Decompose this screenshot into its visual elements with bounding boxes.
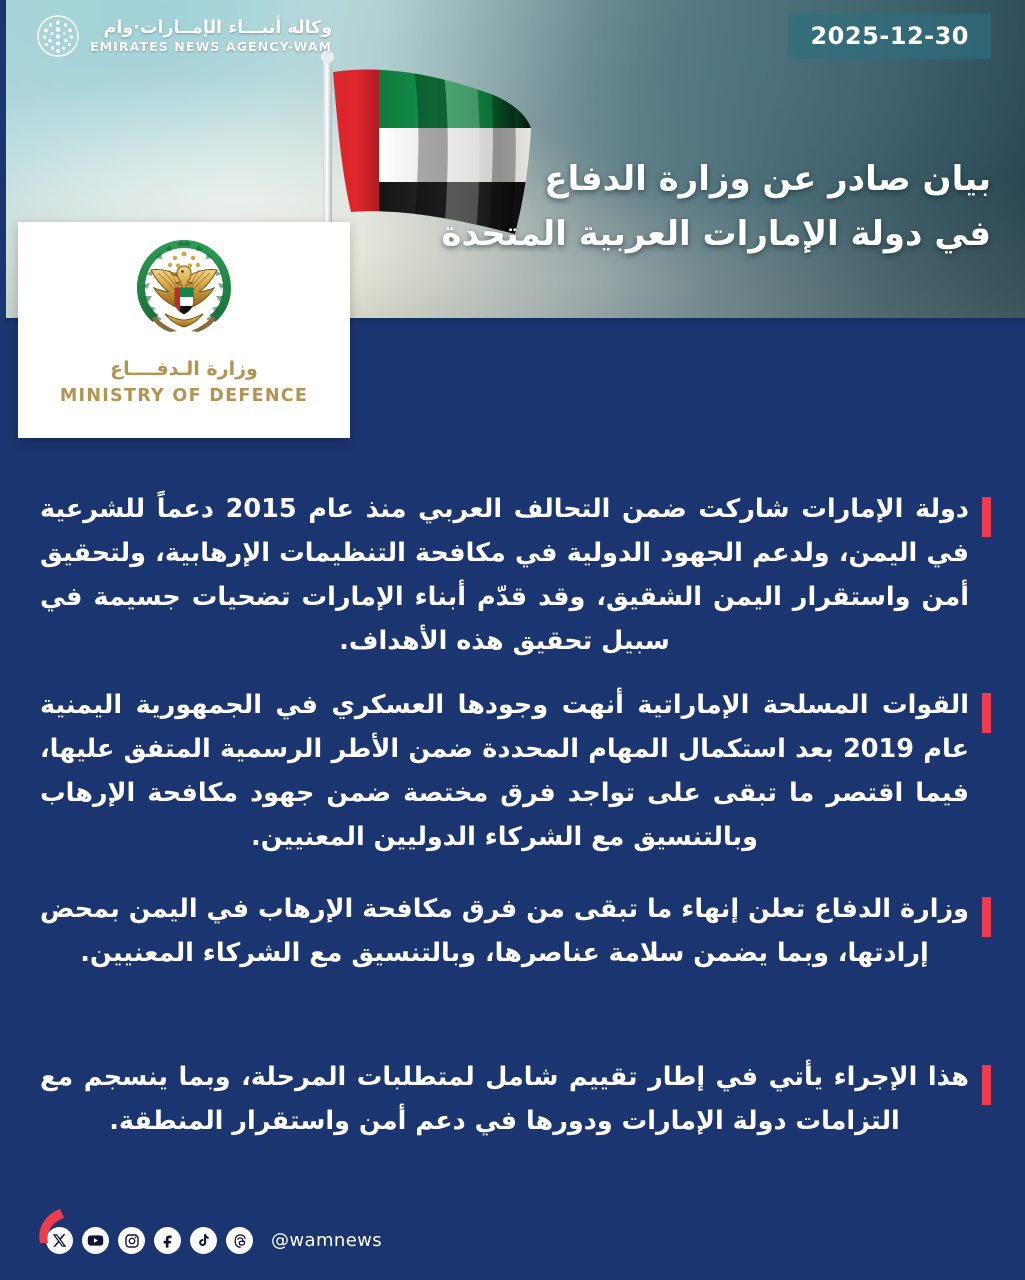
instagram-icon[interactable] [118, 1227, 145, 1254]
headline-line-1: بيان صادر عن وزارة الدفاع [544, 159, 991, 199]
statement-paragraph: دولة الإمارات شاركت ضمن التحالف العربي م… [40, 488, 991, 663]
statement-paragraph: القوات المسلحة الإماراتية أنهت وجودها ال… [40, 684, 991, 859]
page-title: بيان صادر عن وزارة الدفاع في دولة الإمار… [291, 152, 991, 262]
statement-body: دولة الإمارات شاركت ضمن التحالف العربي م… [0, 322, 1025, 1280]
statement-paragraph: هذا الإجراء يأتي في إطار تقييم شامل لمتط… [40, 1056, 991, 1144]
wam-logo-arabic: وكالة أنبـــاء الإمــارات·وام [90, 19, 332, 37]
threads-icon[interactable] [226, 1227, 253, 1254]
ministry-name-english: MINISTRY OF DEFENCE [60, 386, 308, 406]
social-handle: @wamnews [271, 1230, 382, 1251]
youtube-icon[interactable] [82, 1227, 109, 1254]
date-badge: 2025-12-30 [788, 14, 991, 59]
statement-paragraph: وزارة الدفاع تعلن إنهاء ما تبقى من فرق م… [40, 888, 991, 976]
ministry-of-defence-card: وزارة الـدفــــاع MINISTRY OF DEFENCE [18, 222, 350, 438]
tiktok-icon[interactable] [190, 1227, 217, 1254]
wam-logo: وكالة أنبـــاء الإمــارات·وام EMIRATES N… [36, 14, 332, 58]
wam-logo-english: EMIRATES NEWS AGENCY-WAM [90, 40, 332, 53]
facebook-icon[interactable] [154, 1227, 181, 1254]
social-footer: @wamnews [46, 1227, 382, 1254]
red-swoosh-icon [34, 1205, 68, 1245]
news-statement-card: وكالة أنبـــاء الإمــارات·وام EMIRATES N… [0, 0, 1025, 1280]
ministry-name-arabic: وزارة الـدفــــاع [110, 358, 258, 380]
uae-armed-forces-emblem-icon [125, 236, 243, 342]
wam-globe-icon [36, 14, 80, 58]
headline-line-2: في دولة الإمارات العربية المتحدة [291, 207, 991, 262]
